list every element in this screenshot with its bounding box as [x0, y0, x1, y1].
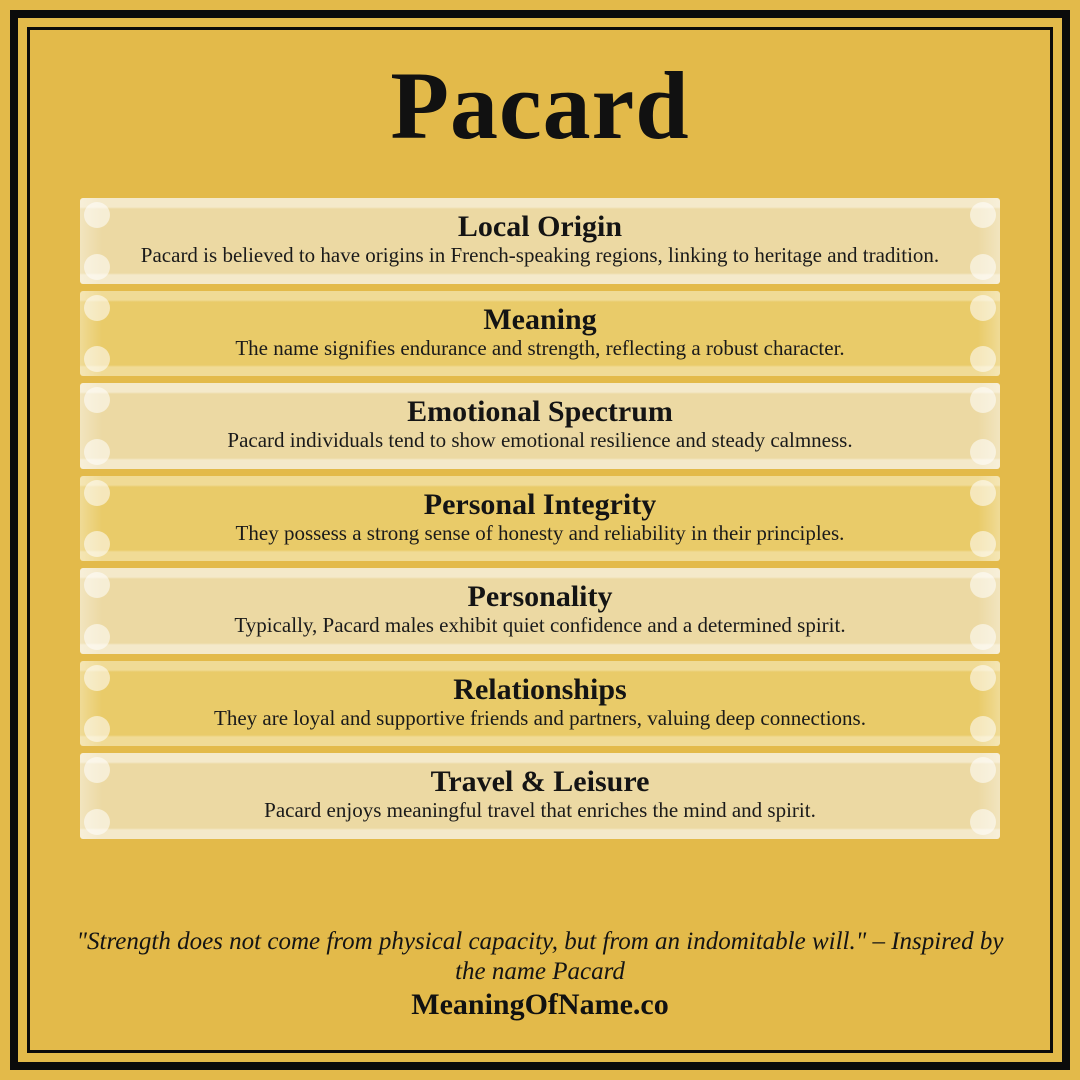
footer: "Strength does not come from physical ca…: [30, 927, 1050, 1050]
footer-brand: MeaningOfName.co: [70, 988, 1010, 1022]
info-card: Local OriginPacard is believed to have o…: [80, 198, 1000, 284]
info-card-heading: Emotional Spectrum: [106, 397, 974, 427]
info-card: RelationshipsThey are loyal and supporti…: [80, 661, 1000, 747]
info-card-heading: Personality: [106, 582, 974, 612]
footer-quote: "Strength does not come from physical ca…: [70, 927, 1010, 986]
info-card-body: Pacard is believed to have origins in Fr…: [106, 244, 974, 268]
info-card-heading: Travel & Leisure: [106, 767, 974, 797]
info-card-body: The name signifies endurance and strengt…: [106, 337, 974, 361]
info-card-body: They possess a strong sense of honesty a…: [106, 522, 974, 546]
info-card: PersonalityTypically, Pacard males exhib…: [80, 568, 1000, 654]
info-card-heading: Relationships: [106, 675, 974, 705]
info-card-list: Local OriginPacard is believed to have o…: [30, 198, 1050, 839]
info-card: Personal IntegrityThey possess a strong …: [80, 476, 1000, 562]
info-card-body: Pacard enjoys meaningful travel that enr…: [106, 799, 974, 823]
page-title: Pacard: [30, 58, 1050, 154]
info-card-body: They are loyal and supportive friends an…: [106, 707, 974, 731]
poster: Pacard Local OriginPacard is believed to…: [0, 0, 1080, 1080]
info-card-body: Typically, Pacard males exhibit quiet co…: [106, 614, 974, 638]
info-card-heading: Meaning: [106, 305, 974, 335]
info-card: Emotional SpectrumPacard individuals ten…: [80, 383, 1000, 469]
info-card-body: Pacard individuals tend to show emotiona…: [106, 429, 974, 453]
info-card: MeaningThe name signifies endurance and …: [80, 291, 1000, 377]
info-card-heading: Personal Integrity: [106, 490, 974, 520]
info-card-heading: Local Origin: [106, 212, 974, 242]
info-card: Travel & LeisurePacard enjoys meaningful…: [80, 753, 1000, 839]
poster-content: Pacard Local OriginPacard is believed to…: [30, 30, 1050, 1050]
